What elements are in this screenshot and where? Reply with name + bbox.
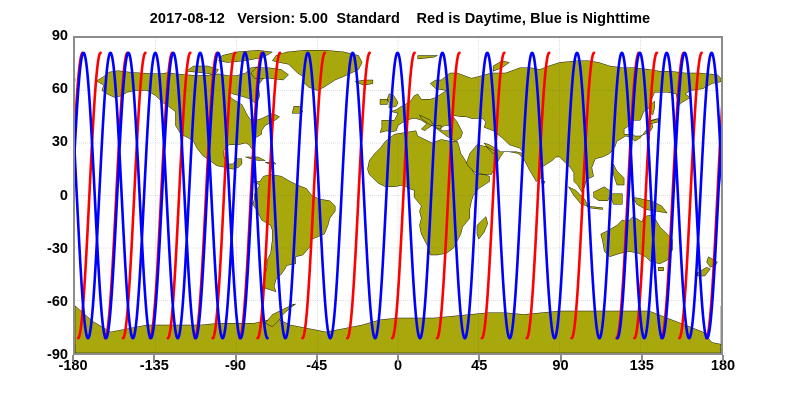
x-tick-mark xyxy=(316,355,318,362)
x-axis-tick-labels: -180-135-90-4504590135180 xyxy=(0,0,800,400)
x-tick-mark xyxy=(478,355,480,362)
x-tick-mark xyxy=(722,355,724,362)
ground-track-figure: 2017-08-12 Version: 5.00 Standard Red is… xyxy=(0,0,800,400)
x-tick-mark xyxy=(235,355,237,362)
x-tick-mark xyxy=(641,355,643,362)
x-tick-mark xyxy=(397,355,399,362)
x-tick-mark xyxy=(153,355,155,362)
x-tick-mark xyxy=(560,355,562,362)
x-tick-mark xyxy=(72,355,74,362)
